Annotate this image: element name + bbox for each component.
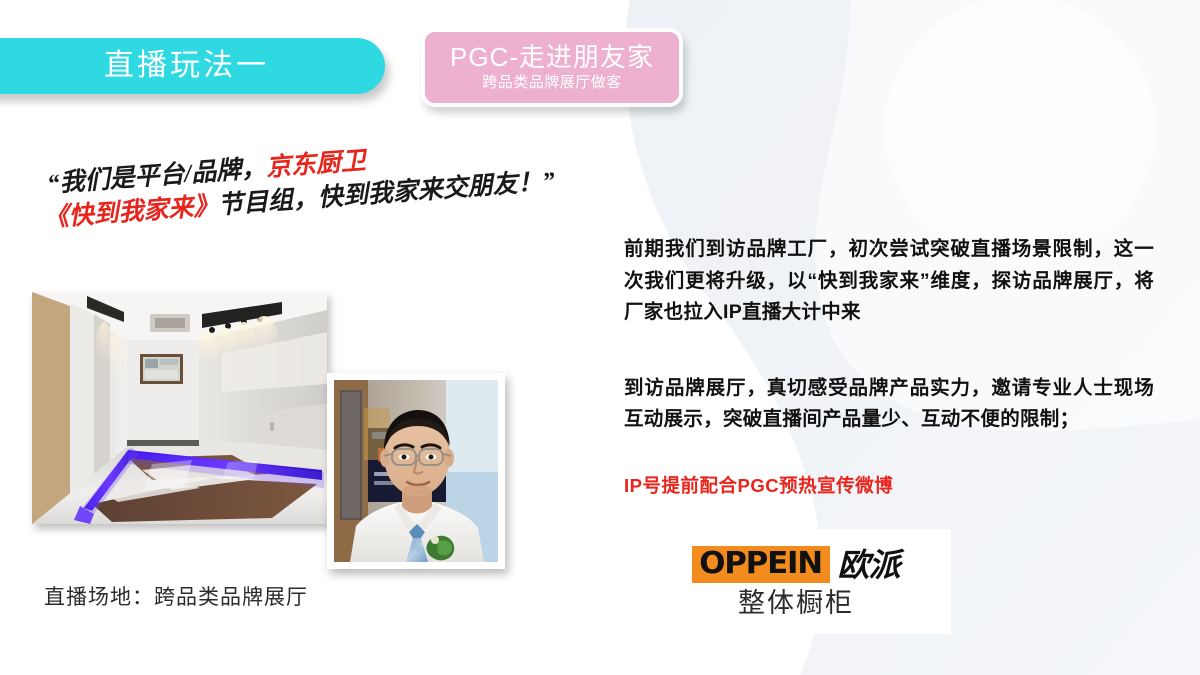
body-text-column: 前期我们到访品牌工厂，初次尝试突破直播场景限制，这一次我们更将升级，以“快到我家… — [624, 234, 1154, 498]
pink-banner-subtitle: 跨品类品牌展厅做客 — [482, 74, 622, 93]
pink-banner-title: PGC-走进朋友家 — [450, 43, 654, 71]
oppein-wordmark-badge: OPPEIN — [692, 546, 829, 583]
teal-section-banner: 直播玩法一 — [0, 38, 385, 94]
oppein-brand-logo: OPPEIN 欧派 整体橱柜 — [641, 529, 951, 634]
showroom-caption: 直播场地：跨品类品牌展厅 — [44, 581, 308, 611]
pink-topic-banner: PGC-走进朋友家 跨品类品牌展厅做客 — [421, 28, 683, 107]
oppein-chinese-name: 欧派 — [838, 549, 900, 581]
slide-root: 直播玩法一 PGC-走进朋友家 跨品类品牌展厅做客 “我们是平台/品牌，京东厨卫… — [0, 0, 1200, 675]
body-paragraph-2: 到访品牌展厅，真切感受品牌产品实力，邀请专业人士现场互动展示，突破直播间产品量少… — [624, 373, 1154, 436]
body-highlight-note: IP号提前配合PGC预热宣传微博 — [624, 472, 1154, 498]
slogan-part-red-1: 京东厨卫 — [265, 148, 367, 182]
oppein-logo-subtitle: 整体橱柜 — [738, 590, 854, 617]
body-paragraph-1: 前期我们到访品牌工厂，初次尝试突破直播场景限制，这一次我们更将升级，以“快到我家… — [624, 234, 1154, 329]
representative-portrait-photo — [327, 373, 505, 569]
oppein-logo-row: OPPEIN 欧派 — [692, 546, 899, 583]
oppein-wordmark-text: OPPEIN — [700, 549, 823, 579]
teal-banner-label: 直播玩法一 — [104, 51, 269, 81]
slogan-quote: “我们是平台/品牌，京东厨卫 《快到我家来》节目组，快到我家来交朋友！” — [46, 124, 650, 248]
brand-showroom-photo — [32, 292, 327, 524]
